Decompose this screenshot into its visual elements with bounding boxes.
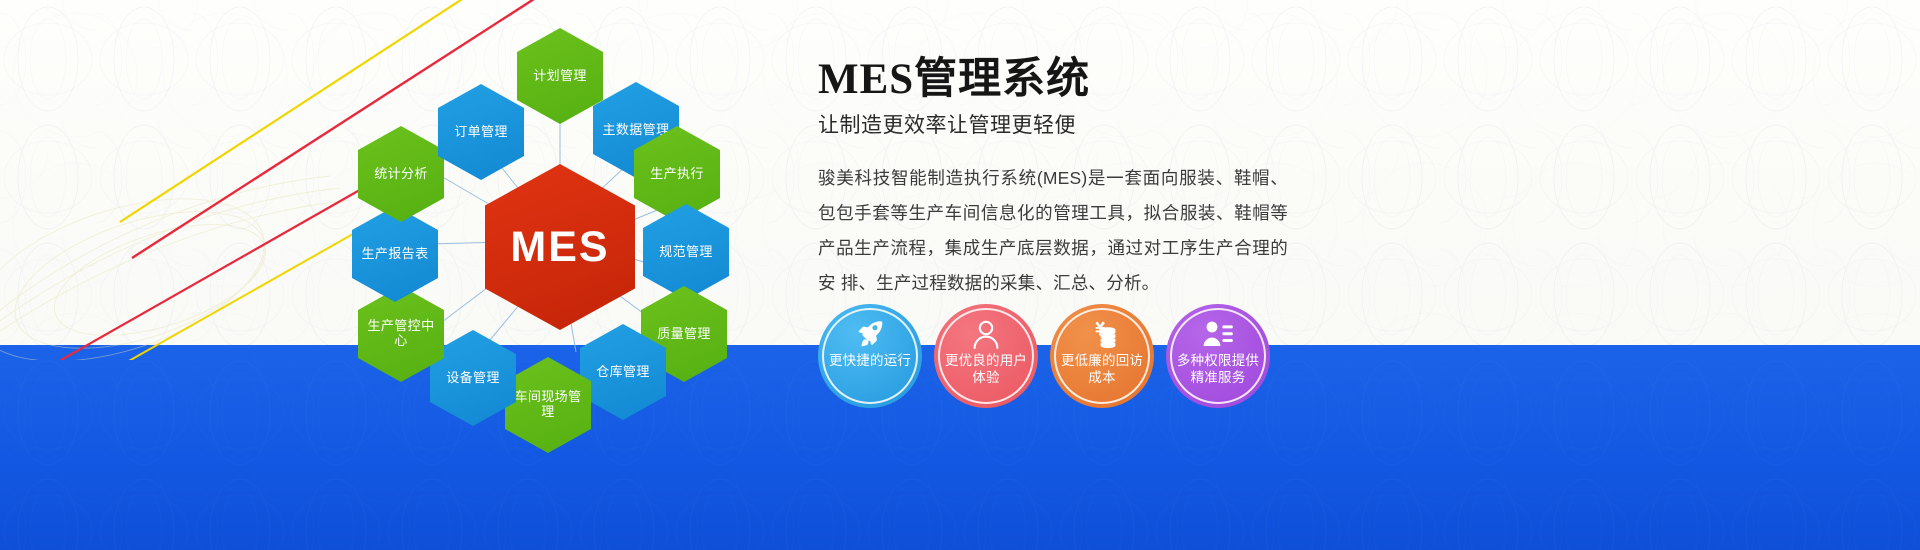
diagram-center-label: MES — [506, 223, 613, 271]
diagram-node-label: 生产报告表 — [357, 247, 432, 262]
badge-label: 多种权限提供精准服务 — [1172, 353, 1264, 387]
rocket-icon — [853, 318, 887, 350]
permissions-icon — [1201, 318, 1235, 350]
diagram-node-label: 生产管控中心 — [358, 319, 444, 348]
feature-badge-permissions[interactable]: 多种权限提供精准服务 — [1166, 304, 1270, 408]
feature-badge-row: 更快捷的运行 更优良的用户体验 — [818, 304, 1270, 408]
diagram-node-label: 统计分析 — [370, 167, 432, 182]
feature-badge-faster-operation[interactable]: 更快捷的运行 — [818, 304, 922, 408]
diagram-node-label: 规范管理 — [655, 245, 717, 260]
badge-label: 更低廉的回访成本 — [1056, 353, 1148, 387]
promo-copy-block: MES管理系统 让制造更效率让管理更轻便 骏美科技智能制造执行系统(MES)是一… — [818, 56, 1288, 301]
feature-badge-lower-cost[interactable]: 更低廉的回访成本 — [1050, 304, 1154, 408]
feature-badge-better-experience[interactable]: 更优良的用户体验 — [934, 304, 1038, 408]
diagram-node-label: 生产执行 — [646, 167, 708, 182]
mes-promo-banner: MES 计划管理 主数据管理 生产执行 规范管理 质量管理 仓库管理 车间现场管… — [0, 0, 1920, 550]
description-paragraph: 骏美科技智能制造执行系统(MES)是一套面向服装、鞋帽、包包手套等生产车间信息化… — [818, 161, 1288, 301]
page-title: MES管理系统 — [818, 56, 1288, 103]
diagram-node-label: 车间现场管理 — [505, 390, 591, 419]
user-icon — [969, 318, 1003, 350]
mes-hexagon-diagram: MES 计划管理 主数据管理 生产执行 规范管理 质量管理 仓库管理 车间现场管… — [330, 22, 790, 422]
badge-label: 更快捷的运行 — [824, 353, 916, 370]
diagram-node-label: 计划管理 — [529, 69, 591, 84]
page-subtitle: 让制造更效率让管理更轻便 — [818, 109, 1288, 139]
diagram-node-label: 订单管理 — [450, 125, 512, 140]
diagram-node-label: 设备管理 — [442, 371, 504, 386]
diagram-node-label: 质量管理 — [653, 327, 715, 342]
coins-icon — [1085, 318, 1119, 350]
diagram-node-label: 仓库管理 — [592, 365, 654, 380]
badge-label: 更优良的用户体验 — [940, 353, 1032, 387]
